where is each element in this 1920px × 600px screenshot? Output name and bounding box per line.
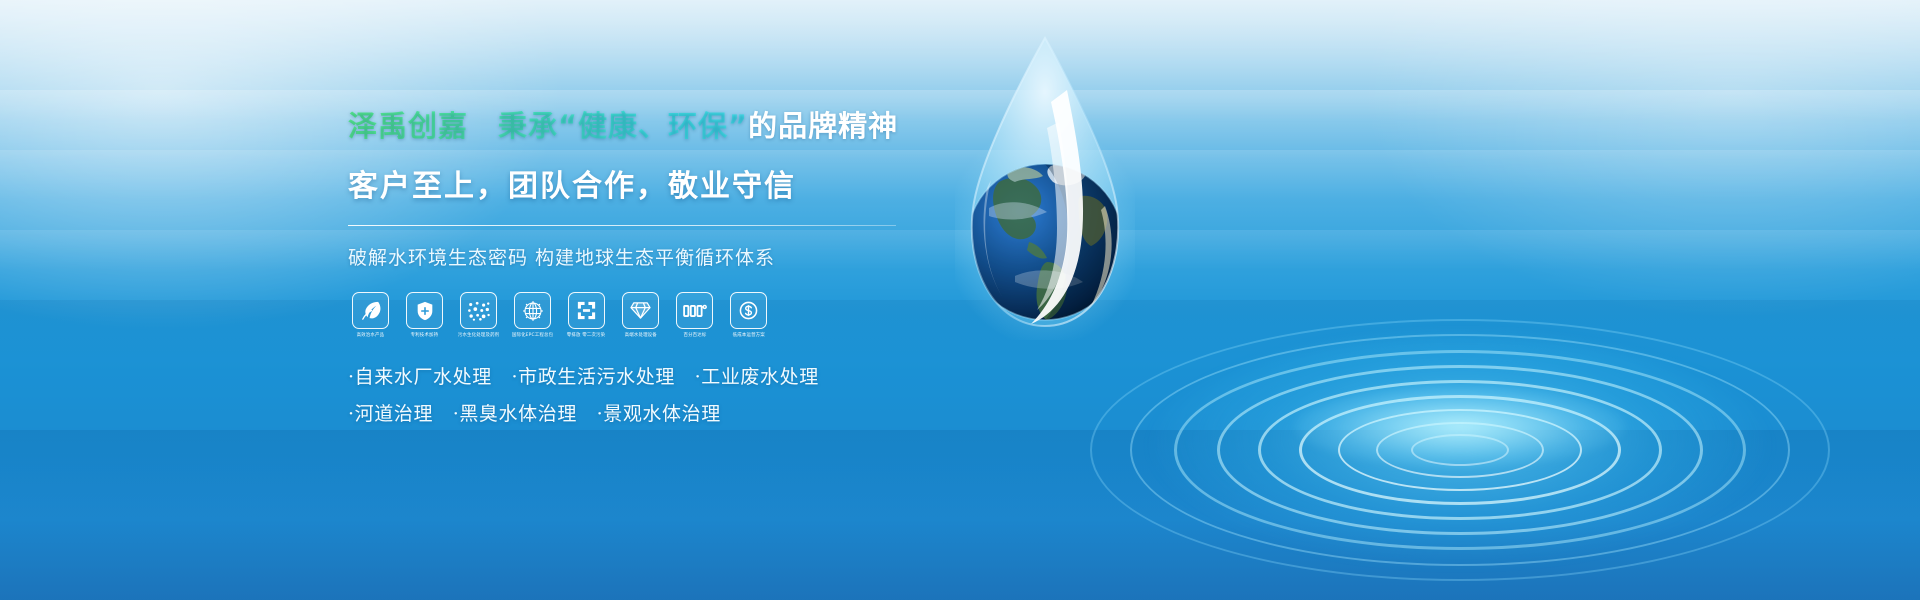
feature-item[interactable]: 污水生化处理及药剂 <box>456 292 501 339</box>
feature-icon-row: 高效治水产品 专利技术加持 <box>348 292 948 339</box>
service-item[interactable]: ·景观水体治理 <box>597 403 721 425</box>
service-item[interactable]: ·工业废水处理 <box>695 366 819 388</box>
meter-100-icon[interactable] <box>676 292 713 329</box>
background-haze-right <box>1360 0 1920 320</box>
service-list: ·自来水厂水处理 ·市政生活污水处理 ·工业废水处理 ·河道治理 ·黑臭水体治理… <box>348 359 948 433</box>
service-item[interactable]: ·河道治理 <box>348 403 433 425</box>
service-item[interactable]: ·黑臭水体治理 <box>453 403 577 425</box>
feature-item[interactable]: 零排放 零二次污染 <box>564 292 609 339</box>
shield-plus-icon[interactable] <box>406 292 443 329</box>
feature-label: 污水生化处理及药剂 <box>458 333 499 339</box>
feature-item[interactable]: 低成本运营方案 <box>726 292 771 339</box>
headline-secondary: 客户至上，团队合作，敬业守信 <box>348 161 948 205</box>
molecule-dots-icon[interactable] <box>460 292 497 329</box>
service-line: ·河道治理 ·黑臭水体治理 ·景观水体治理 <box>348 396 948 433</box>
headline-primary: 泽禹创嘉 秉承“健康、环保”的品牌精神 <box>348 108 948 144</box>
frame-scan-icon[interactable] <box>568 292 605 329</box>
service-line: ·自来水厂水处理 ·市政生活污水处理 ·工业废水处理 <box>348 359 948 396</box>
service-item[interactable]: ·市政生活污水处理 <box>511 366 674 388</box>
tagline: 破解水环境生态密码 构建地球生态平衡循环体系 <box>348 243 948 270</box>
feature-label: 零排放 零二次污染 <box>567 333 605 339</box>
water-band <box>0 430 1920 520</box>
feature-label: 百分百达标 <box>683 333 706 339</box>
banner-content: 泽禹创嘉 秉承“健康、环保”的品牌精神 客户至上，团队合作，敬业守信 破解水环境… <box>348 108 948 433</box>
globe-gear-icon[interactable] <box>514 292 551 329</box>
feature-label: 高效治水产品 <box>357 333 385 339</box>
feature-item[interactable]: 国际化EPC工程总包 <box>510 292 555 339</box>
feature-item[interactable]: 专利技术加持 <box>402 292 447 339</box>
droplet-icon <box>955 30 1135 340</box>
feature-label: 高端水处理设备 <box>624 333 656 339</box>
leaf-wing-icon[interactable] <box>352 292 389 329</box>
feature-item[interactable]: 高端水处理设备 <box>618 292 663 339</box>
feature-item[interactable]: 百分百达标 <box>672 292 717 339</box>
hero-banner: 泽禹创嘉 秉承“健康、环保”的品牌精神 客户至上，团队合作，敬业守信 破解水环境… <box>0 0 1920 600</box>
headline-plain-text: 的品牌精神 <box>748 109 898 143</box>
diamond-icon[interactable] <box>622 292 659 329</box>
dollar-circle-icon[interactable] <box>730 292 767 329</box>
water-band <box>0 520 1920 600</box>
headline-accent-text: 泽禹创嘉 秉承“健康、环保” <box>348 109 748 143</box>
service-item[interactable]: ·自来水厂水处理 <box>348 366 492 388</box>
section-divider <box>348 225 896 226</box>
water-droplet-graphic <box>955 30 1135 340</box>
feature-label: 专利技术加持 <box>411 333 439 339</box>
feature-label: 低成本运营方案 <box>732 333 764 339</box>
feature-label: 国际化EPC工程总包 <box>512 333 553 339</box>
feature-item[interactable]: 高效治水产品 <box>348 292 393 339</box>
water-ripples <box>1010 300 1910 600</box>
